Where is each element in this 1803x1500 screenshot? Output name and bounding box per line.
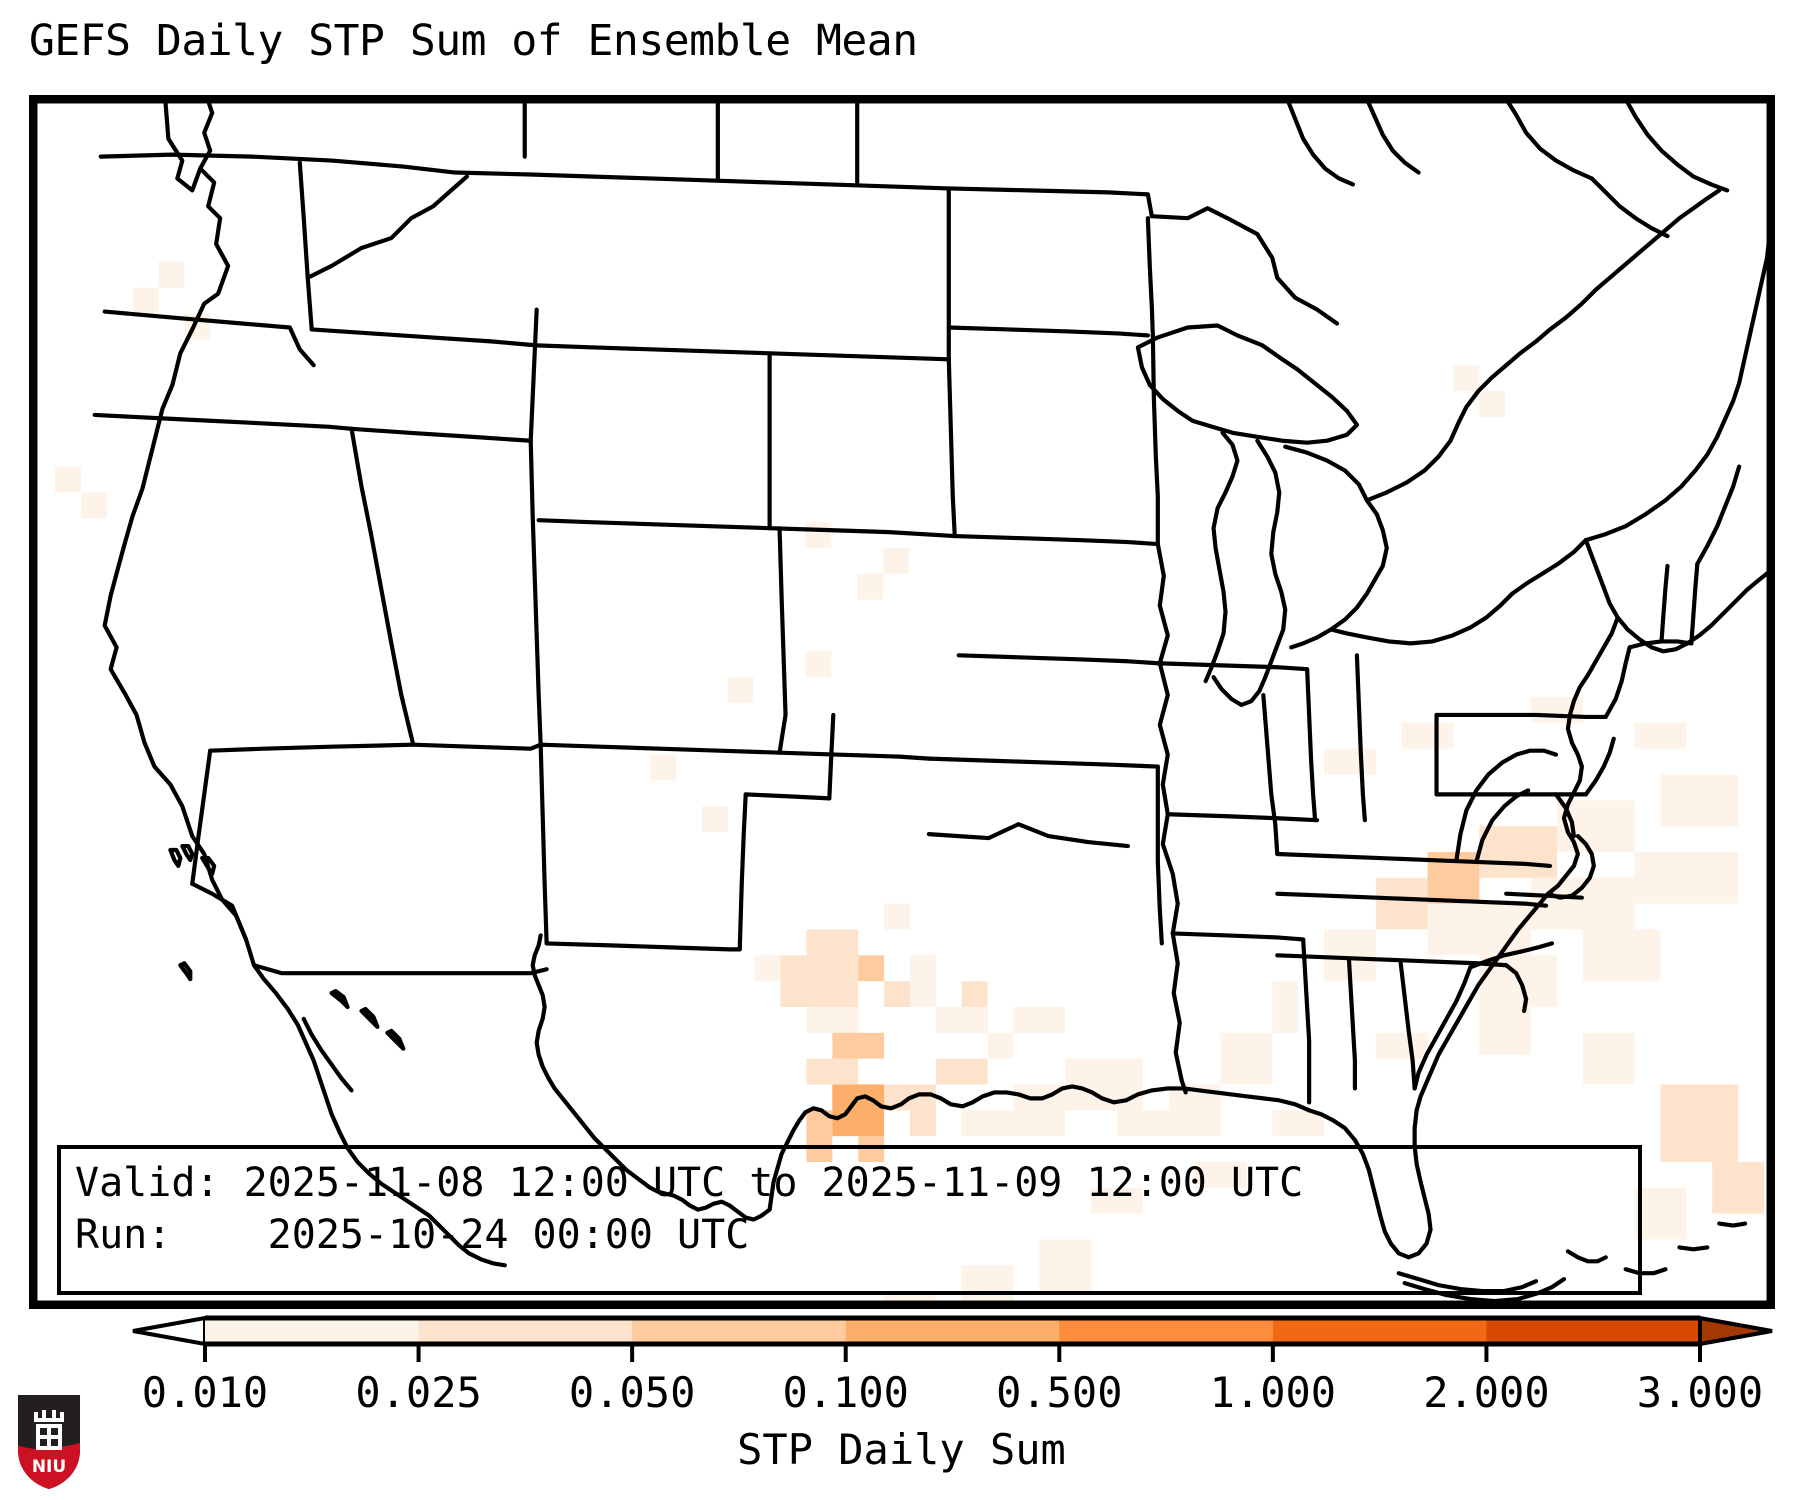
- page-title: GEFS Daily STP Sum of Ensemble Mean: [29, 16, 918, 66]
- map-border: [35, 101, 1769, 1303]
- colorbar-tick-label: 0.025: [355, 1368, 481, 1417]
- valid-time-line: Valid: 2025-11-08 12:00 UTC to 2025-11-0…: [75, 1163, 1303, 1203]
- colorbar-tick-labels: 0.0100.0250.0500.1000.5001.0002.0003.000: [0, 1368, 1803, 1416]
- colorbar-band: [632, 1318, 846, 1344]
- colorbar-under-arrow: [133, 1318, 205, 1344]
- colorbar-tick-label: 0.100: [782, 1368, 908, 1417]
- colorbar-band: [1059, 1318, 1273, 1344]
- colorbar-band: [419, 1318, 633, 1344]
- state-borders: [95, 99, 1771, 1301]
- colorbar-band: [1273, 1318, 1487, 1344]
- colorbar-swatches: [0, 1308, 1803, 1368]
- colorbar-tick-label: 2.000: [1423, 1368, 1549, 1417]
- colorbar-tick-label: 0.500: [996, 1368, 1122, 1417]
- colorbar-tick-label: 0.010: [142, 1368, 268, 1417]
- colorbar-tick-label: 1.000: [1210, 1368, 1336, 1417]
- map-frame: [29, 95, 1775, 1309]
- colorbar-tick-label: 3.000: [1637, 1368, 1763, 1417]
- colorbar-axis-label: STP Daily Sum: [0, 1425, 1803, 1474]
- colorbar-band: [205, 1318, 419, 1344]
- colorbar-tick-label: 0.050: [569, 1368, 695, 1417]
- colorbar-over-arrow: [1700, 1318, 1772, 1344]
- colorbar-band: [1486, 1318, 1700, 1344]
- run-time-line: Run: 2025-10-24 00:00 UTC: [75, 1215, 749, 1255]
- valid-run-info-box: Valid: 2025-11-08 12:00 UTC to 2025-11-0…: [57, 1145, 1642, 1295]
- colorbar: [0, 1308, 1803, 1368]
- colorbar-band: [846, 1318, 1060, 1344]
- niu-wordmark: NIU: [32, 1457, 66, 1477]
- niu-logo: NIU: [14, 1392, 84, 1492]
- us-map-outlines: [33, 99, 1771, 1305]
